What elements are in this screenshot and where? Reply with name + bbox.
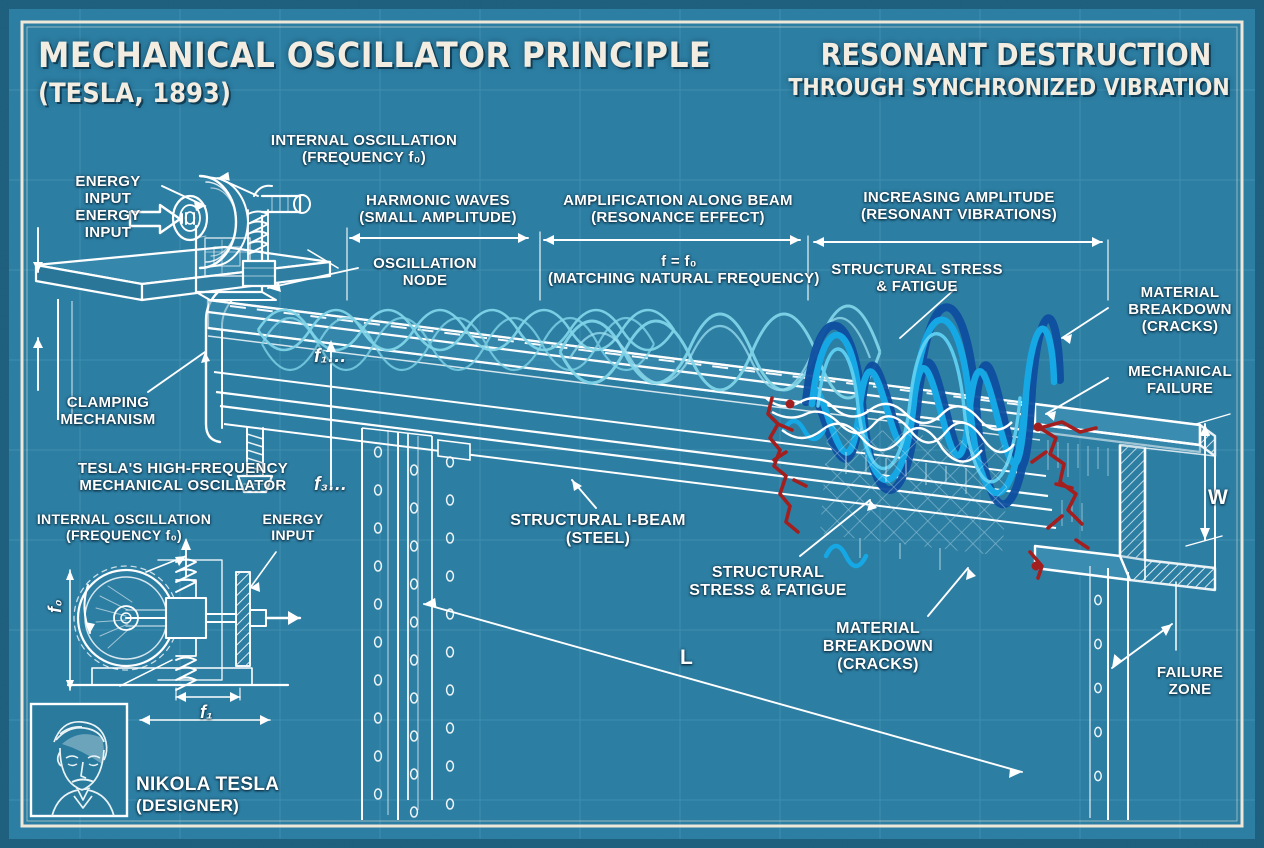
portrait-role: (DESIGNER) [136, 796, 239, 815]
zone-increasing-amplitude: INCREASING AMPLITUDE (RESONANT VIBRATION… [838, 190, 1080, 224]
zone-amplification-sub: f = f₀ (MATCHING NATURAL FREQUENCY) [548, 254, 810, 288]
zone-harmonic-waves: HARMONIC WAVES (SMALL AMPLITUDE) [350, 193, 526, 227]
blueprint-canvas: MECHANICAL OSCILLATOR PRINCIPLE (TESLA, … [0, 0, 1264, 848]
callout-failure-zone: FAILURE ZONE [1140, 665, 1240, 699]
callout-structural-ibeam: STRUCTURAL I-BEAM (STEEL) [500, 512, 696, 548]
title-right-line2: THROUGH SYNCHRONIZED VIBRATION [786, 76, 1232, 100]
portrait-name: NIKOLA TESLA [136, 774, 279, 795]
dimension-beam-web-height: W [1208, 486, 1228, 510]
callout-material-breakdown-lower: MATERIAL BREAKDOWN (CRACKS) [810, 620, 946, 674]
callout-internal-oscillation-top: INTERNAL OSCILLATION (FREQUENCY f₀) [254, 133, 474, 167]
dimension-harmonic-f1: f₁… [314, 346, 347, 367]
callout-energy-input-a: ENERGY INPUT [62, 174, 154, 208]
dimension-harmonic-f3: f₃… [314, 474, 348, 495]
dimension-inset-f0: f₀ [45, 599, 65, 613]
callout-structural-stress-upper: STRUCTURAL STRESS & FATIGUE [828, 262, 1006, 296]
blueprint-artwork [0, 0, 1264, 848]
callout-clamping-mechanism: CLAMPING MECHANISM [44, 395, 172, 429]
title-right-line1: RESONANT DESTRUCTION [800, 40, 1232, 72]
callout-oscillation-node: OSCILLATION NODE [360, 256, 490, 290]
callout-mechanical-failure: MECHANICAL FAILURE [1114, 364, 1246, 398]
dimension-beam-length: L [680, 646, 693, 670]
title-left-line1: MECHANICAL OSCILLATOR PRINCIPLE [38, 38, 711, 75]
callout-energy-input-b: ENERGY INPUT [62, 208, 154, 242]
caption-tesla-oscillator: TESLA'S HIGH-FREQUENCY MECHANICAL OSCILL… [62, 461, 304, 495]
title-left-line2: (TESLA, 1893) [38, 80, 231, 108]
dimension-inset-f1: f₁ [200, 702, 213, 722]
callout-inset-energy-input: ENERGY INPUT [248, 512, 338, 543]
callout-inset-internal-oscillation: INTERNAL OSCILLATION (FREQUENCY f₀) [34, 512, 214, 543]
callout-structural-stress-lower: STRUCTURAL STRESS & FATIGUE [678, 564, 858, 600]
zone-amplification: AMPLIFICATION ALONG BEAM (RESONANCE EFFE… [550, 193, 806, 227]
callout-material-breakdown-right: MATERIAL BREAKDOWN (CRACKS) [1114, 285, 1246, 335]
